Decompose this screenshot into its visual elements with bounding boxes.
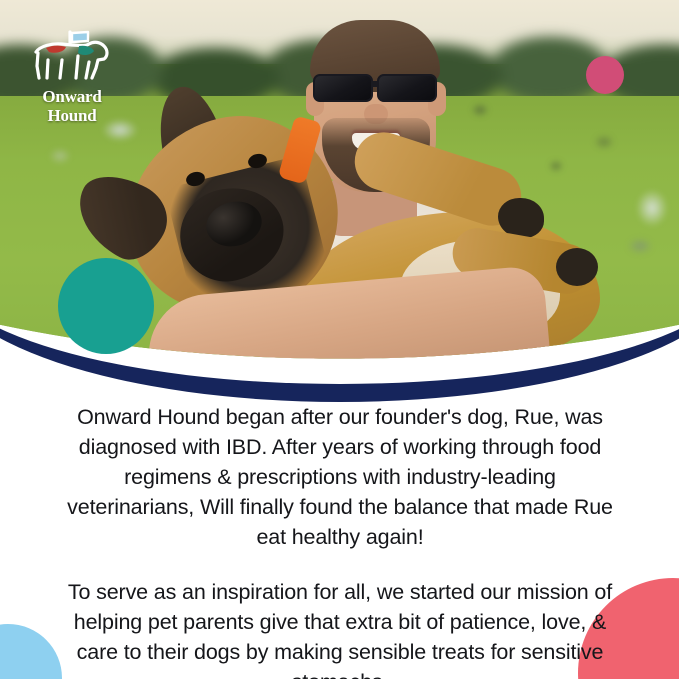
brand-story-card: Onward Hound Onward Hound began after ou… <box>0 0 679 679</box>
brand-logo-text: Onward Hound <box>26 88 118 124</box>
story-paragraph-2: To serve as an inspiration for all, we s… <box>62 577 618 679</box>
dog-hind-paw <box>556 248 598 286</box>
sunglasses-icon <box>309 72 443 104</box>
brand-name-line-1: Onward <box>26 88 118 105</box>
brand-story-copy: Onward Hound began after our founder's d… <box>62 402 618 679</box>
teal-circle <box>58 258 154 354</box>
sunglasses-left-lens <box>313 74 373 102</box>
brand-name-line-2: Hound <box>26 107 118 124</box>
story-paragraph-1: Onward Hound began after our founder's d… <box>62 402 618 552</box>
pink-circle <box>586 56 624 94</box>
brand-logo[interactable]: Onward Hound <box>26 26 118 126</box>
onward-hound-dog-flag-logo-icon <box>26 26 118 86</box>
sunglasses-right-lens <box>377 74 437 102</box>
